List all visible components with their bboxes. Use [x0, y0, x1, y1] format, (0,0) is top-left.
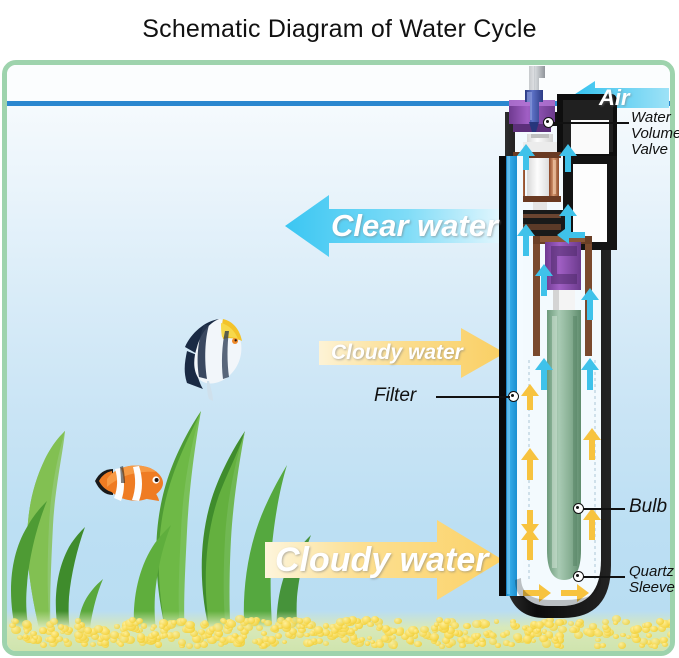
water-volume-valve-leader-line — [553, 122, 629, 124]
gravel-pebble — [282, 621, 291, 629]
gravel-pebble — [622, 619, 629, 625]
gravel-pebble — [481, 620, 490, 628]
gravel-pebble — [297, 618, 304, 624]
gravel-pebble — [558, 626, 567, 633]
gravel-pebble — [545, 631, 553, 638]
filter-line-1: Filter — [374, 386, 416, 406]
gravel-pebble — [137, 633, 145, 640]
gravel-pebble — [50, 618, 58, 625]
gravel-pebble — [667, 631, 675, 638]
wvv-line-2: Volume — [631, 126, 679, 142]
wvv-line-3: Valve — [631, 142, 679, 158]
gravel-pebble — [652, 644, 657, 649]
filter-leader-line — [436, 396, 510, 398]
gravel-pebble — [633, 625, 643, 633]
cloudy-water-lower-label: Cloudy water — [275, 541, 488, 580]
gravel-pebble — [618, 642, 626, 649]
flow-callout-cloudy-water-lower: Cloudy water — [265, 520, 503, 600]
gravel-pebble — [568, 621, 574, 626]
quartz-sleeve-label: Quartz Sleeve — [629, 564, 675, 596]
gravel-pebble — [151, 631, 159, 637]
gravel-pebble — [394, 618, 402, 625]
gravel-pebble — [227, 620, 236, 627]
gravel-pebble — [213, 623, 223, 631]
gravel-pebble — [22, 620, 31, 628]
gravel-pebble — [392, 644, 397, 648]
gravel-pebble — [242, 634, 247, 638]
bulb-leader-line — [583, 508, 625, 510]
gravel-pebble — [613, 621, 618, 625]
clear-water-label: Clear water — [331, 208, 498, 244]
gravel-pebble — [535, 621, 544, 629]
gravel-pebble — [162, 633, 168, 638]
gravel-pebble — [667, 619, 674, 625]
gravel-pebble — [613, 634, 619, 639]
gravel-pebble — [314, 626, 324, 634]
flow-callout-clear-water: Clear water — [285, 195, 507, 257]
wvv-line-1: Water — [631, 110, 679, 126]
water-volume-valve-label: Water Volume Valve — [631, 110, 679, 157]
gravel-pebble — [110, 631, 119, 639]
gravel-pebble — [467, 637, 475, 644]
gravel-pebble — [150, 627, 155, 631]
gravel-pebble — [602, 624, 609, 630]
gravel-pebble — [268, 636, 276, 643]
gravel-pebble — [620, 633, 625, 637]
gravel-pebble — [495, 643, 500, 648]
air-label: Air — [599, 85, 630, 111]
gravel-pebble — [444, 618, 451, 624]
gravel-pebble — [185, 621, 195, 629]
gravel-pebble — [323, 623, 329, 628]
gravel-pebble — [261, 643, 266, 648]
gravel-pebble — [650, 626, 658, 633]
gravel-pebble — [660, 637, 668, 644]
gravel-pebble — [508, 642, 515, 648]
gravel-pebble — [141, 623, 148, 629]
gravel-pebble — [202, 620, 209, 626]
gravel-pebble — [311, 638, 317, 643]
bulb-line-1: Bulb — [629, 497, 667, 517]
gravel-pebble — [232, 633, 238, 638]
gravel-pebble — [553, 636, 558, 641]
gravel-pebble — [303, 617, 312, 624]
gravel-pebble — [282, 640, 287, 644]
gravel-pebble — [646, 633, 652, 638]
gravel-pebble — [575, 621, 582, 627]
gravel-pebble — [420, 626, 429, 633]
gravel-pebble — [479, 638, 485, 643]
gravel-pebble — [94, 625, 103, 633]
page-title: Schematic Diagram of Water Cycle — [0, 0, 679, 58]
gravel-pebble — [359, 637, 365, 642]
gravel-pebble — [24, 629, 30, 634]
gravel-pebble — [350, 635, 357, 641]
gravel-pebble — [504, 630, 511, 636]
gravel-pebble — [114, 624, 119, 628]
gravel-pebble — [377, 624, 383, 629]
angelfish — [179, 313, 251, 393]
gravel-pebble — [367, 622, 373, 627]
gravel-pebble — [589, 623, 596, 629]
gravel-pebble — [414, 641, 421, 647]
gravel-pebble — [439, 644, 444, 649]
gravel-pebble — [463, 623, 470, 629]
gravel-pebble — [194, 643, 201, 649]
quartz-sleeve-leader-line — [583, 576, 625, 578]
gravel-pebble — [594, 630, 602, 637]
gravel-pebble — [186, 643, 193, 649]
quartz-line-1: Quartz — [629, 564, 675, 580]
gravel-pebble — [413, 629, 419, 634]
gravel-pebble — [390, 635, 396, 640]
uv-filter-device — [499, 60, 617, 620]
gravel-pebble — [90, 642, 96, 647]
gravel-pebble — [248, 617, 256, 623]
gravel-pebble — [159, 624, 165, 629]
gravel-pebble — [39, 627, 46, 633]
bulb-label: Bulb — [629, 497, 667, 517]
gravel-pebble — [656, 618, 664, 625]
gravel-pebble — [545, 621, 553, 628]
gravel-pebble — [451, 622, 459, 629]
clownfish — [79, 457, 163, 511]
gravel-pebble — [40, 642, 47, 648]
gravel-pebble — [323, 641, 329, 646]
gravel-pebble — [172, 631, 181, 638]
gravel-pebble — [463, 630, 468, 635]
gravel-pebble — [75, 618, 81, 623]
gravel-pebble — [513, 633, 522, 641]
gravel-pebble — [390, 628, 397, 634]
gravel-pebble — [474, 642, 479, 646]
gravel-pebble — [58, 624, 64, 629]
gravel-pebble — [123, 632, 129, 637]
gravel-pebble — [600, 643, 606, 648]
gravel-pebble — [13, 619, 19, 624]
gravel-pebble — [84, 627, 92, 634]
quartz-line-2: Sleeve — [629, 580, 675, 596]
filter-label: Filter — [374, 386, 416, 406]
gravel-pebble — [430, 633, 439, 641]
gravel-pebble — [342, 617, 351, 624]
gravel-pebble — [489, 638, 497, 645]
gravel-pebble — [307, 624, 313, 629]
flow-callout-cloudy-water-upper: Cloudy water — [319, 328, 505, 378]
gravel-pebble — [595, 638, 601, 643]
cloudy-water-upper-label: Cloudy water — [331, 341, 463, 365]
